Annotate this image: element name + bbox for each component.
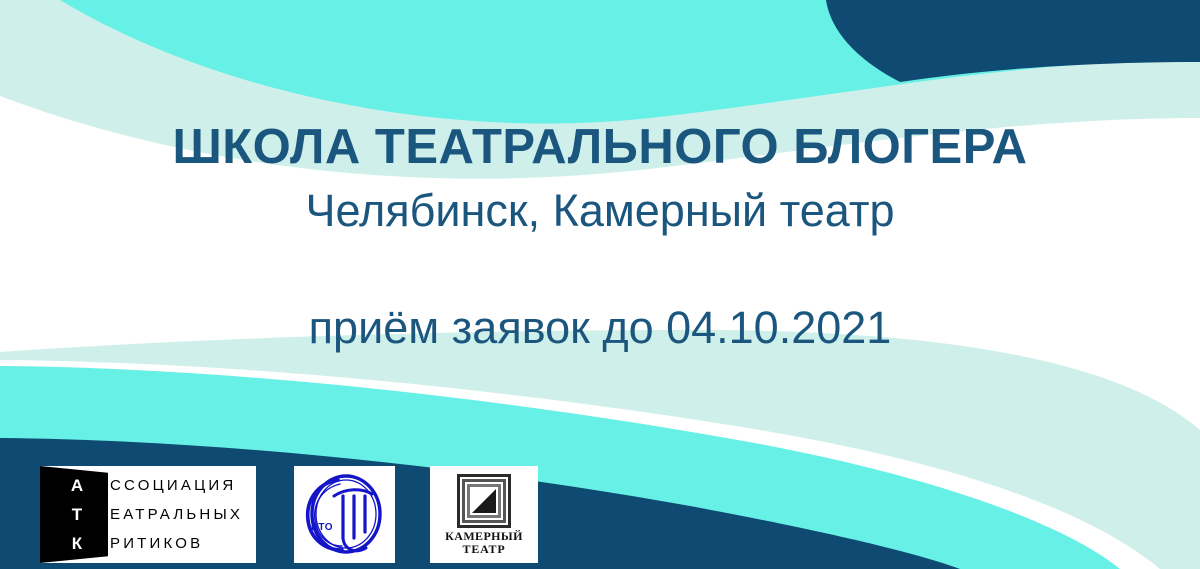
poster-canvas: ШКОЛА ТЕАТРАЛЬНОГО БЛОГЕРА Челябинск, Ка… — [0, 0, 1200, 569]
top-cyan-wave — [60, 0, 1200, 124]
application-deadline: приём заявок до 04.10.2021 — [0, 303, 1200, 353]
page-title: ШКОЛА ТЕАТРАЛЬНОГО БЛОГЕРА — [0, 122, 1200, 173]
logo-association-theatre-critics: А Т К ССОЦИАЦИЯ ЕАТРАЛЬНЫХ РИТИКОВ — [40, 466, 256, 563]
nested-square-frame-icon — [457, 474, 511, 528]
atk-monogram-a: А — [54, 475, 100, 497]
vto-label: ВТО — [311, 522, 333, 533]
std-monogram-icon — [294, 466, 395, 563]
logo-std-vto: ВТО — [294, 466, 395, 563]
kamerny-line-2: ТЕАТР — [430, 543, 538, 556]
logo-kamerny-teatr: КАМЕРНЫЙ ТЕАТР — [430, 466, 538, 563]
kamerny-wordmark: КАМЕРНЫЙ ТЕАТР — [430, 530, 538, 556]
atk-wordmark: ССОЦИАЦИЯ ЕАТРАЛЬНЫХ РИТИКОВ — [110, 475, 252, 555]
page-subtitle: Челябинск, Камерный театр — [0, 186, 1200, 236]
atk-word-line-1: ССОЦИАЦИЯ — [110, 475, 252, 497]
atk-word-line-2: ЕАТРАЛЬНЫХ — [110, 504, 252, 526]
partner-logo-strip: А Т К ССОЦИАЦИЯ ЕАТРАЛЬНЫХ РИТИКОВ — [0, 466, 1200, 569]
atk-monogram: А Т К — [54, 475, 100, 555]
atk-monogram-k: К — [54, 533, 100, 555]
atk-word-line-3: РИТИКОВ — [110, 533, 252, 555]
atk-monogram-t: Т — [54, 504, 100, 526]
top-navy-blob — [826, 0, 1200, 82]
